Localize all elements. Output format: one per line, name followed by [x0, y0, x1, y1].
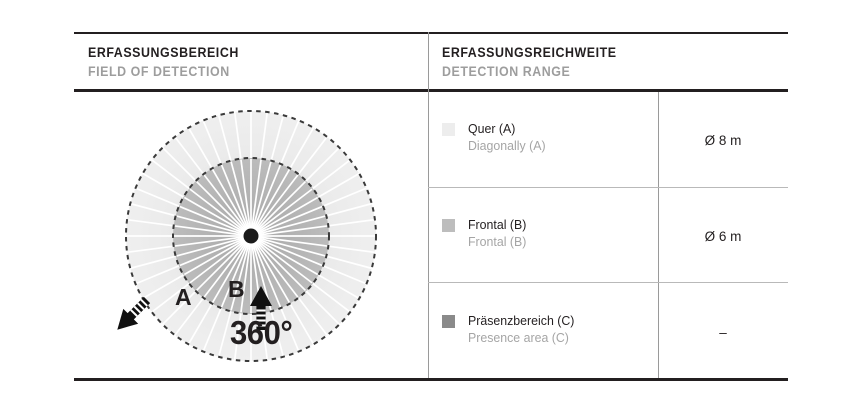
legend-label-de: Frontal (B): [468, 216, 526, 233]
column-header-detection-range: ERFASSUNGSREICHWEITE DETECTION RANGE: [442, 44, 632, 80]
legend-label-en: Diagonally (A): [468, 137, 546, 154]
legend-label-en: Frontal (B): [468, 233, 526, 250]
row-divider-2: [428, 282, 788, 283]
column-header-en: DETECTION RANGE: [442, 63, 617, 80]
column-header-en: FIELD OF DETECTION: [88, 63, 239, 80]
table-row: Quer (A) Diagonally (A): [442, 120, 550, 154]
spec-table: ERFASSUNGSBEREICH FIELD OF DETECTION ERF…: [74, 32, 788, 380]
range-value-c: –: [658, 325, 788, 340]
legend-swatch-a: [442, 123, 455, 136]
column-divider-main: [428, 32, 429, 378]
detection-spec-sheet: A B 360° ERFASSUNGSBEREICH FIELD OF DETE…: [0, 0, 861, 420]
legend-swatch-c: [442, 315, 455, 328]
table-header-rule: [74, 89, 788, 92]
range-value-b: Ø 6 m: [658, 229, 788, 244]
row-divider-1: [428, 187, 788, 188]
column-header-de: ERFASSUNGSREICHWEITE: [442, 44, 617, 61]
legend-text-c: Präsenzbereich (C) Presence area (C): [468, 312, 580, 346]
legend-label-en: Presence area (C): [468, 329, 574, 346]
legend-text-b: Frontal (B) Frontal (B): [468, 216, 529, 250]
legend-text-a: Quer (A) Diagonally (A): [468, 120, 550, 154]
legend-label-de: Präsenzbereich (C): [468, 312, 574, 329]
range-value-a: Ø 8 m: [658, 133, 788, 148]
column-header-de: ERFASSUNGSBEREICH: [88, 44, 239, 61]
column-header-field-of-detection: ERFASSUNGSBEREICH FIELD OF DETECTION: [88, 44, 252, 80]
table-row: Frontal (B) Frontal (B): [442, 216, 529, 250]
table-top-rule: [74, 32, 788, 34]
table-row: Präsenzbereich (C) Presence area (C): [442, 312, 580, 346]
legend-swatch-b: [442, 219, 455, 232]
legend-label-de: Quer (A): [468, 120, 546, 137]
table-bottom-rule: [74, 378, 788, 381]
